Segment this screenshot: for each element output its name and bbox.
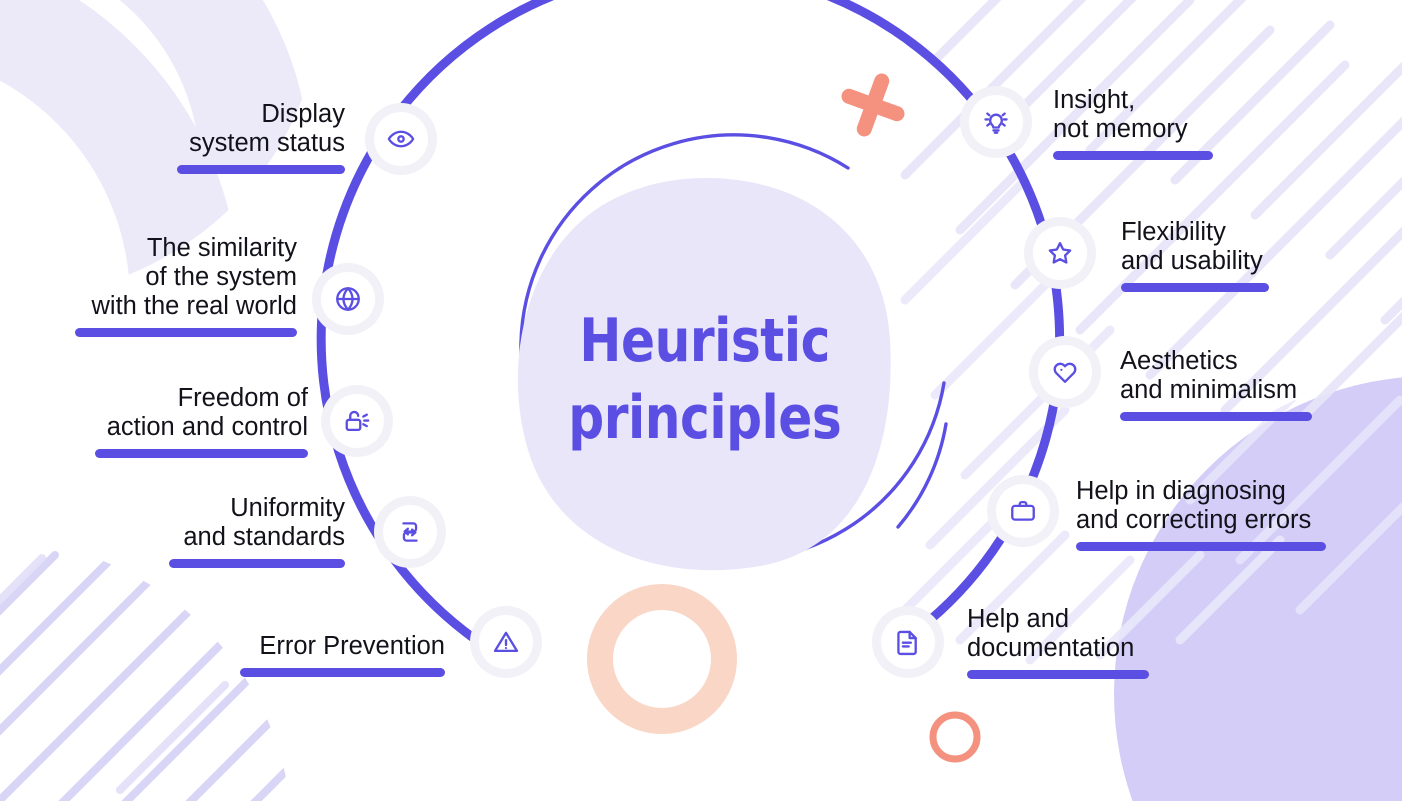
label-underline <box>177 165 345 174</box>
title-line-1: Heuristic <box>580 303 830 380</box>
unlock-icon <box>343 407 371 435</box>
node-help-documentation[interactable] <box>881 615 935 669</box>
label-text: Display system status <box>100 100 345 158</box>
label-text: The similarity of the system with the re… <box>35 234 297 321</box>
label-text: Help in diagnosing and correcting errors <box>1076 477 1376 535</box>
label-text: Error Prevention <box>190 632 445 661</box>
inner-arc-right <box>898 424 946 527</box>
star-icon <box>1046 239 1074 267</box>
decor-stripes-bottom-left <box>0 555 308 801</box>
eye-icon <box>387 125 415 153</box>
exchange-icon <box>396 518 424 546</box>
node-similarity-real-world[interactable] <box>321 272 375 326</box>
toolbox-icon <box>1009 497 1037 525</box>
node-aesthetics-minimalism[interactable] <box>1038 345 1092 399</box>
label-text: Help and documentation <box>967 605 1217 663</box>
label-text: Insight, not memory <box>1053 86 1283 144</box>
label-text: Flexibility and usability <box>1121 218 1351 276</box>
label-uniformity-standards: Uniformity and standards <box>130 494 345 568</box>
label-freedom-action-control: Freedom of action and control <box>60 384 308 458</box>
warning-icon <box>492 628 520 656</box>
label-error-prevention: Error Prevention <box>190 632 445 677</box>
label-underline <box>1121 283 1269 292</box>
label-display-system-status: Display system status <box>100 100 345 174</box>
label-text: Aesthetics and minimalism <box>1120 347 1370 405</box>
node-error-prevention[interactable] <box>479 615 533 669</box>
node-insight-not-memory[interactable] <box>969 95 1023 149</box>
label-underline <box>240 668 445 677</box>
node-freedom-action-control[interactable] <box>330 394 384 448</box>
decor-plus-coral <box>831 63 916 148</box>
label-underline <box>95 449 308 458</box>
label-text: Freedom of action and control <box>60 384 308 442</box>
decor-ring-peach <box>600 597 724 721</box>
title-line-2: principles <box>568 380 841 457</box>
node-help-diagnosing-errors[interactable] <box>996 484 1050 538</box>
heart-icon <box>1051 358 1079 386</box>
page-title: Heuristic principles <box>510 255 900 505</box>
document-icon <box>894 628 922 656</box>
node-flexibility-usability[interactable] <box>1033 226 1087 280</box>
label-similarity-real-world: The similarity of the system with the re… <box>35 234 297 337</box>
label-underline <box>169 559 345 568</box>
label-underline <box>1076 542 1326 551</box>
infographic-canvas: Heuristic principles <box>0 0 1402 801</box>
label-flexibility-usability: Flexibility and usability <box>1121 218 1351 292</box>
label-text: Uniformity and standards <box>130 494 345 552</box>
lightbulb-icon <box>982 108 1010 136</box>
node-uniformity-standards[interactable] <box>383 505 437 559</box>
label-underline <box>75 328 297 337</box>
decor-ring-coral <box>933 715 977 759</box>
label-underline <box>1053 151 1213 160</box>
label-underline <box>1120 412 1312 421</box>
globe-icon <box>334 285 362 313</box>
decor-circle-bottom-right <box>1114 376 1402 801</box>
label-aesthetics-minimalism: Aesthetics and minimalism <box>1120 347 1370 421</box>
label-insight-not-memory: Insight, not memory <box>1053 86 1283 160</box>
label-help-documentation: Help and documentation <box>967 605 1217 679</box>
label-underline <box>967 670 1149 679</box>
node-display-system-status[interactable] <box>374 112 428 166</box>
label-help-diagnosing-errors: Help in diagnosing and correcting errors <box>1076 477 1376 551</box>
